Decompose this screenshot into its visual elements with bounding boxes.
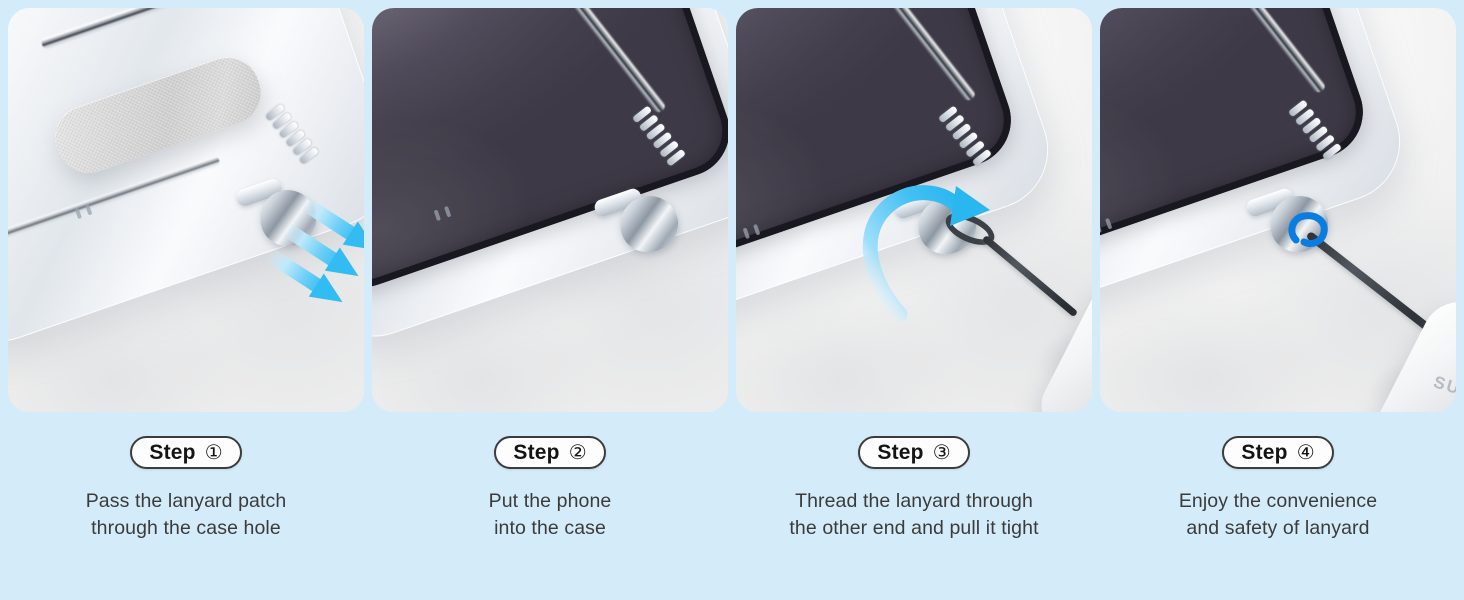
caption-line-1: Thread the lanyard through	[789, 488, 1038, 515]
step-caption-row: Step ① Pass the lanyard patch through th…	[0, 436, 1464, 542]
lanyard-steps-infographic: SURP	[0, 0, 1464, 600]
step-caption-text-2: Put the phone into the case	[489, 488, 612, 542]
step-badge-word: Step	[149, 442, 195, 463]
panel-1-photo	[8, 8, 364, 412]
step-caption-4: Step ④ Enjoy the convenience and safety …	[1100, 436, 1456, 542]
step-badge-word: Step	[513, 442, 559, 463]
step-caption-2: Step ② Put the phone into the case	[372, 436, 728, 542]
step-badge-number: ③	[933, 443, 951, 463]
step-badge-number: ②	[569, 443, 587, 463]
step-image-panel-4: SU	[1100, 8, 1456, 412]
step-image-panel-2	[372, 8, 728, 412]
knot-highlight-ring	[1278, 200, 1342, 264]
strap-brand-text: SU	[1431, 372, 1456, 399]
step-caption-1: Step ① Pass the lanyard patch through th…	[8, 436, 364, 542]
caption-line-2: into the case	[489, 515, 612, 542]
panel-4-photo: SU	[1100, 8, 1456, 412]
step-image-panel-1	[8, 8, 364, 412]
caption-line-2: and safety of lanyard	[1179, 515, 1377, 542]
caption-line-2: the other end and pull it tight	[789, 515, 1038, 542]
step-badge-1: Step ①	[130, 436, 242, 469]
panel-2-photo	[372, 8, 728, 412]
step-caption-3: Step ③ Thread the lanyard through the ot…	[736, 436, 1092, 542]
thread-direction-arrow	[838, 166, 1048, 346]
caption-line-1: Pass the lanyard patch	[86, 488, 287, 515]
step-caption-text-1: Pass the lanyard patch through the case …	[86, 488, 287, 542]
clear-case-shell	[8, 8, 364, 358]
step-badge-word: Step	[1241, 442, 1287, 463]
caption-line-1: Put the phone	[489, 488, 612, 515]
caption-line-2: through the case hole	[86, 515, 287, 542]
step-caption-text-3: Thread the lanyard through the other end…	[789, 488, 1038, 542]
step-image-panel-row: SURP	[0, 0, 1464, 412]
step-badge-word: Step	[877, 442, 923, 463]
caption-line-1: Enjoy the convenience	[1179, 488, 1377, 515]
step-badge-number: ④	[1297, 443, 1315, 463]
step-badge-2: Step ②	[494, 436, 606, 469]
panel-3-photo: SURP	[736, 8, 1092, 412]
step-badge-3: Step ③	[858, 436, 970, 469]
step-caption-text-4: Enjoy the convenience and safety of lany…	[1179, 488, 1377, 542]
step-image-panel-3: SURP	[736, 8, 1092, 412]
step-badge-number: ①	[205, 443, 223, 463]
step-badge-4: Step ④	[1222, 436, 1334, 469]
